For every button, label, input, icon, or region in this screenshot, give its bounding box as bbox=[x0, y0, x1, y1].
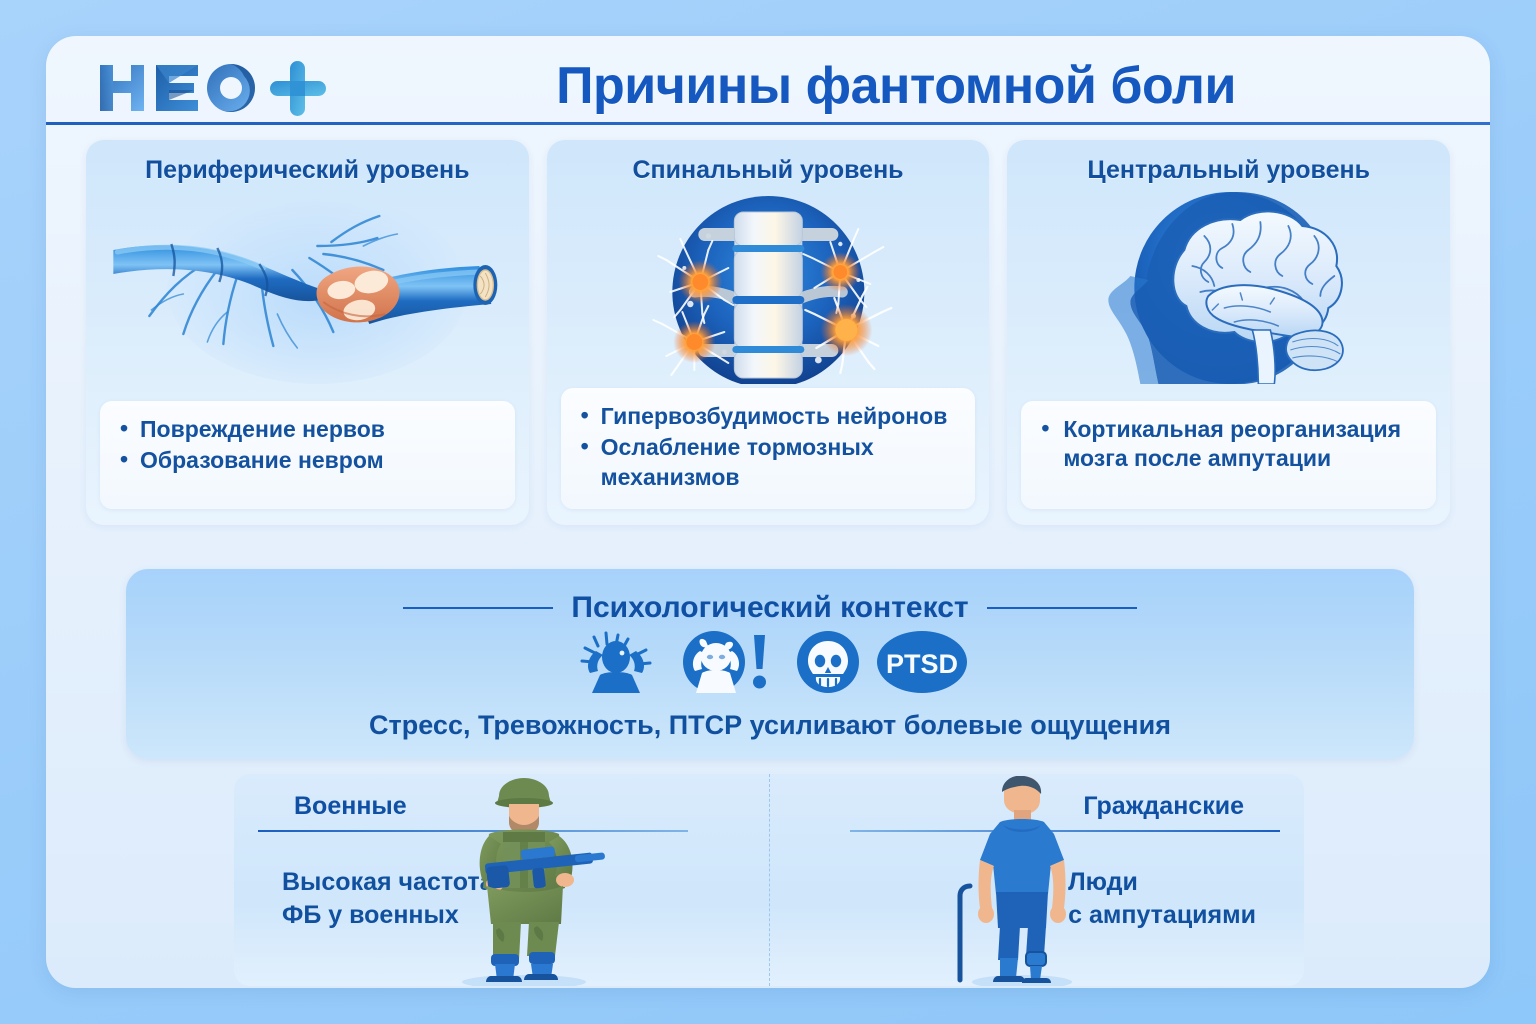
group-text-line: Люди bbox=[1068, 866, 1256, 899]
psych-title: Психологический контекст bbox=[571, 591, 968, 625]
exclamation-mark bbox=[753, 635, 766, 689]
brain-head-illustration bbox=[1007, 184, 1450, 384]
level-bullets-spinal: Гипервозбудимость нейронов Ослабление то… bbox=[561, 388, 976, 509]
group-title-civilian: Гражданские bbox=[1083, 792, 1244, 821]
poster-header: Причины фантомной боли bbox=[46, 36, 1490, 122]
level-card-central[interactable]: Центральный уровень bbox=[1007, 140, 1450, 525]
level-card-spinal[interactable]: Спинальный уровень bbox=[547, 140, 990, 525]
group-text-line: с ампутациями bbox=[1068, 899, 1256, 932]
damaged-nerve-illustration bbox=[86, 184, 529, 384]
stressed-person-icon bbox=[572, 631, 662, 693]
psych-header: Психологический контекст bbox=[126, 591, 1414, 625]
civilian-with-prosthesis-figure bbox=[944, 776, 1094, 986]
cane-icon bbox=[960, 886, 970, 980]
infographic-poster: Причины фантомной боли Периферический ур… bbox=[46, 36, 1490, 988]
group-panel-military[interactable]: Военные Высокая частота ФБ у военных bbox=[234, 774, 769, 986]
groups-row: Военные Высокая частота ФБ у военных bbox=[234, 774, 1304, 986]
level-title-spinal: Спинальный уровень bbox=[547, 156, 990, 185]
group-panel-civilian[interactable]: Гражданские Люди с ампутациями bbox=[769, 774, 1305, 986]
psychological-context-panel: Психологический контекст bbox=[126, 569, 1414, 759]
spine-neurons-illustration bbox=[547, 184, 990, 384]
plus-icon bbox=[270, 61, 326, 116]
level-title-peripheral: Периферический уровень bbox=[86, 156, 529, 185]
neo-plus-logo-icon bbox=[94, 59, 344, 117]
list-item: Гипервозбудимость нейронов bbox=[579, 402, 960, 431]
neo-plus-logo bbox=[94, 58, 344, 118]
soldier-with-prosthesis-figure bbox=[429, 776, 619, 986]
psych-rule-left bbox=[403, 607, 553, 609]
skull-icon bbox=[794, 631, 862, 693]
level-bullets-central: Кортикальная реорганизация мозга после а… bbox=[1021, 401, 1436, 509]
anxious-person-exclamation-icon bbox=[676, 631, 780, 693]
ptsd-badge-icon: PTSD bbox=[876, 631, 968, 693]
psych-rule-right bbox=[987, 607, 1137, 609]
level-card-peripheral[interactable]: Периферический уровень bbox=[86, 140, 529, 525]
group-text-civilian: Люди с ампутациями bbox=[1068, 866, 1256, 932]
group-title-military: Военные bbox=[294, 792, 407, 821]
list-item: Образование невром bbox=[118, 446, 499, 475]
list-item: Кортикальная реорганизация мозга после а… bbox=[1039, 415, 1420, 474]
page-title: Причины фантомной боли bbox=[376, 56, 1416, 116]
psych-caption: Стресс, Тревожность, ПТСР усиливают боле… bbox=[126, 710, 1414, 741]
level-title-central: Центральный уровень bbox=[1007, 156, 1450, 185]
list-item: Повреждение нервов bbox=[118, 415, 499, 444]
level-bullets-peripheral: Повреждение нервов Образование невром bbox=[100, 401, 515, 509]
ptsd-badge-label: PTSD bbox=[886, 649, 958, 679]
list-item: Ослабление тормозных механизмов bbox=[579, 433, 960, 492]
header-divider bbox=[46, 122, 1490, 125]
psych-icons-row: PTSD bbox=[126, 631, 1414, 693]
levels-row: Периферический уровень bbox=[86, 140, 1450, 525]
